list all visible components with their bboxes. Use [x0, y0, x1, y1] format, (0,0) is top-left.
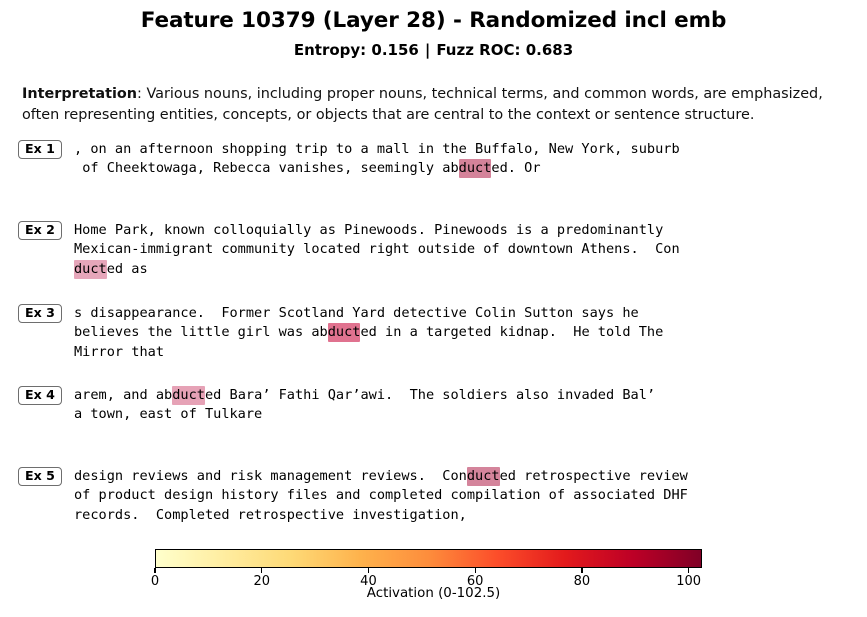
plain-token-run: Home Park, known colloquially as Pinewoo… — [74, 222, 680, 257]
colorbar-tick-mark — [368, 568, 369, 573]
activation-token: duct — [459, 159, 492, 178]
colorbar-gradient — [155, 549, 702, 568]
interpretation-lead-label: Interpretation — [22, 86, 137, 102]
example-badge: Ex 2 — [18, 221, 62, 240]
activation-token: duct — [467, 467, 500, 486]
interpretation-body: : Various nouns, including proper nouns,… — [22, 86, 823, 123]
activation-token: duct — [74, 260, 107, 279]
page-title: Feature 10379 (Layer 28) - Randomized in… — [0, 8, 867, 33]
colorbar-axis-label: Activation (0-102.5) — [0, 586, 867, 601]
example-block: Ex 3s disappearance. Former Scotland Yar… — [18, 304, 858, 362]
activation-token: duct — [172, 386, 205, 405]
entropy-metric: Entropy: 0.156 — [294, 41, 419, 59]
plain-token-run: ed. Or — [491, 160, 540, 176]
plain-token-run: design reviews and risk management revie… — [74, 468, 467, 484]
metric-separator: | — [419, 41, 436, 59]
colorbar-tick-mark — [261, 568, 262, 573]
metrics-subtitle: Entropy: 0.156|Fuzz ROC: 0.683 — [0, 41, 867, 59]
example-text: Home Park, known colloquially as Pinewoo… — [74, 221, 858, 279]
example-block: Ex 5design reviews and risk management r… — [18, 467, 858, 525]
colorbar-tick-mark — [581, 568, 582, 573]
example-block: Ex 2Home Park, known colloquially as Pin… — [18, 221, 858, 279]
example-badge: Ex 3 — [18, 304, 62, 323]
colorbar-tick-mark — [688, 568, 689, 573]
example-badge: Ex 5 — [18, 467, 62, 486]
fuzz-roc-metric: Fuzz ROC: 0.683 — [436, 41, 573, 59]
colorbar-tick-mark — [475, 568, 476, 573]
example-block: Ex 4arem, and abducted Bara’ Fathi Qar’a… — [18, 386, 858, 425]
example-text: arem, and abducted Bara’ Fathi Qar’awi. … — [74, 386, 858, 425]
colorbar-tick-mark — [154, 568, 155, 573]
example-badge: Ex 1 — [18, 140, 62, 159]
plain-token-run: , on an afternoon shopping trip to a mal… — [74, 141, 680, 176]
example-text: design reviews and risk management revie… — [74, 467, 858, 525]
example-text: , on an afternoon shopping trip to a mal… — [74, 140, 858, 179]
example-badge: Ex 4 — [18, 386, 62, 405]
interpretation-paragraph: Interpretation: Various nouns, including… — [22, 84, 852, 126]
example-block: Ex 1, on an afternoon shopping trip to a… — [18, 140, 858, 179]
activation-token: duct — [328, 323, 361, 342]
example-text: s disappearance. Former Scotland Yard de… — [74, 304, 858, 362]
plain-token-run: arem, and ab — [74, 387, 172, 403]
plain-token-run: ed as — [107, 261, 148, 277]
